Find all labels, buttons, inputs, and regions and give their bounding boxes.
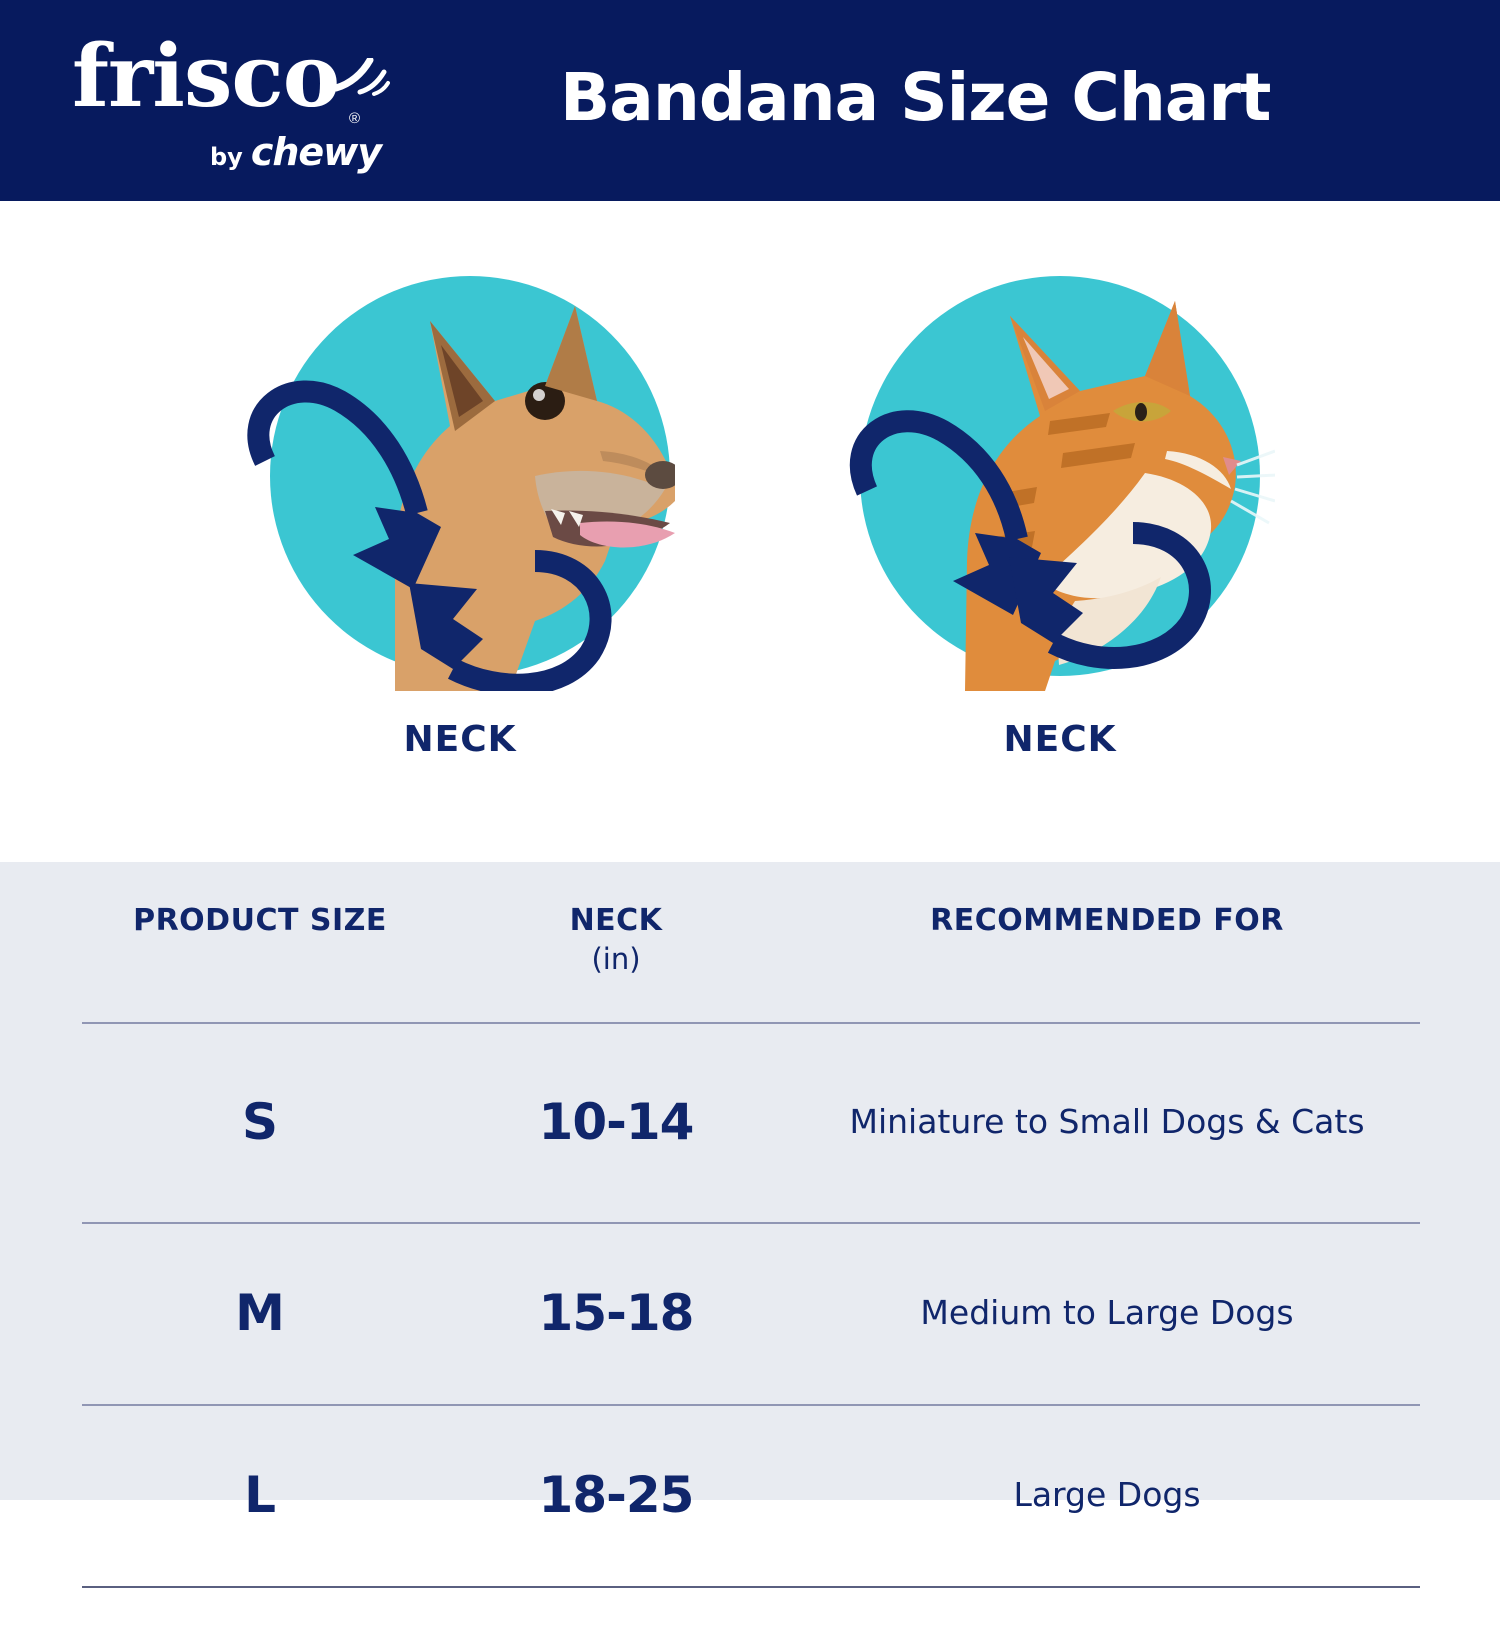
table-bottom-divider xyxy=(82,1587,1420,1648)
table-header-row: PRODUCT SIZE NECK (in) RECOMMENDED FOR xyxy=(82,862,1420,1023)
logo-wordmark: frisco xyxy=(72,34,339,120)
cell-neck: 15-18 xyxy=(438,1223,794,1405)
column-header-product-size-label: PRODUCT SIZE xyxy=(133,903,387,938)
cell-size: M xyxy=(82,1223,438,1405)
dog-neck-label: NECK xyxy=(160,719,760,760)
registered-trademark-icon: ® xyxy=(349,110,360,127)
illustration-band: NECK xyxy=(0,201,1500,862)
column-header-product-size: PRODUCT SIZE xyxy=(82,862,438,1023)
table-header: PRODUCT SIZE NECK (in) RECOMMENDED FOR xyxy=(82,862,1420,1023)
size-table: PRODUCT SIZE NECK (in) RECOMMENDED FOR S… xyxy=(82,862,1420,1648)
cat-neck-diagram-icon xyxy=(845,261,1275,691)
cell-recommended: Medium to Large Dogs xyxy=(794,1223,1420,1405)
table-row: S 10-14 Miniature to Small Dogs & Cats xyxy=(82,1023,1420,1223)
cell-size: S xyxy=(82,1023,438,1223)
dog-neck-diagram-icon xyxy=(245,261,675,691)
table-row: M 15-18 Medium to Large Dogs xyxy=(82,1223,1420,1405)
cell-neck: 18-25 xyxy=(438,1405,794,1587)
frisco-logo: frisco ® by chewy xyxy=(72,34,372,169)
dog-illustration: NECK xyxy=(160,201,760,862)
size-table-section: PRODUCT SIZE NECK (in) RECOMMENDED FOR S… xyxy=(0,862,1500,1500)
logo-byline: by chewy xyxy=(210,130,381,174)
cat-neck-label: NECK xyxy=(760,719,1360,760)
table-body: S 10-14 Miniature to Small Dogs & Cats M… xyxy=(82,1023,1420,1648)
column-header-neck: NECK (in) xyxy=(438,862,794,1023)
column-header-neck-label: NECK xyxy=(570,903,663,938)
column-header-recommended-for: RECOMMENDED FOR xyxy=(794,862,1420,1023)
page-title: Bandana Size Chart xyxy=(560,58,1270,138)
header-bar: frisco ® by chewy Bandana Size Chart xyxy=(0,0,1500,201)
column-header-neck-unit: (in) xyxy=(442,940,790,978)
cat-illustration: NECK xyxy=(760,201,1360,862)
column-header-recommended-for-label: RECOMMENDED FOR xyxy=(930,903,1284,938)
logo-chewy-text: chewy xyxy=(251,130,381,174)
cell-recommended: Large Dogs xyxy=(794,1405,1420,1587)
cell-neck: 10-14 xyxy=(438,1023,794,1223)
cell-size: L xyxy=(82,1405,438,1587)
table-row: L 18-25 Large Dogs xyxy=(82,1405,1420,1587)
logo-by-text: by xyxy=(210,143,243,171)
cell-recommended: Miniature to Small Dogs & Cats xyxy=(794,1023,1420,1223)
size-chart-page: frisco ® by chewy Bandana Size Chart xyxy=(0,0,1500,1500)
